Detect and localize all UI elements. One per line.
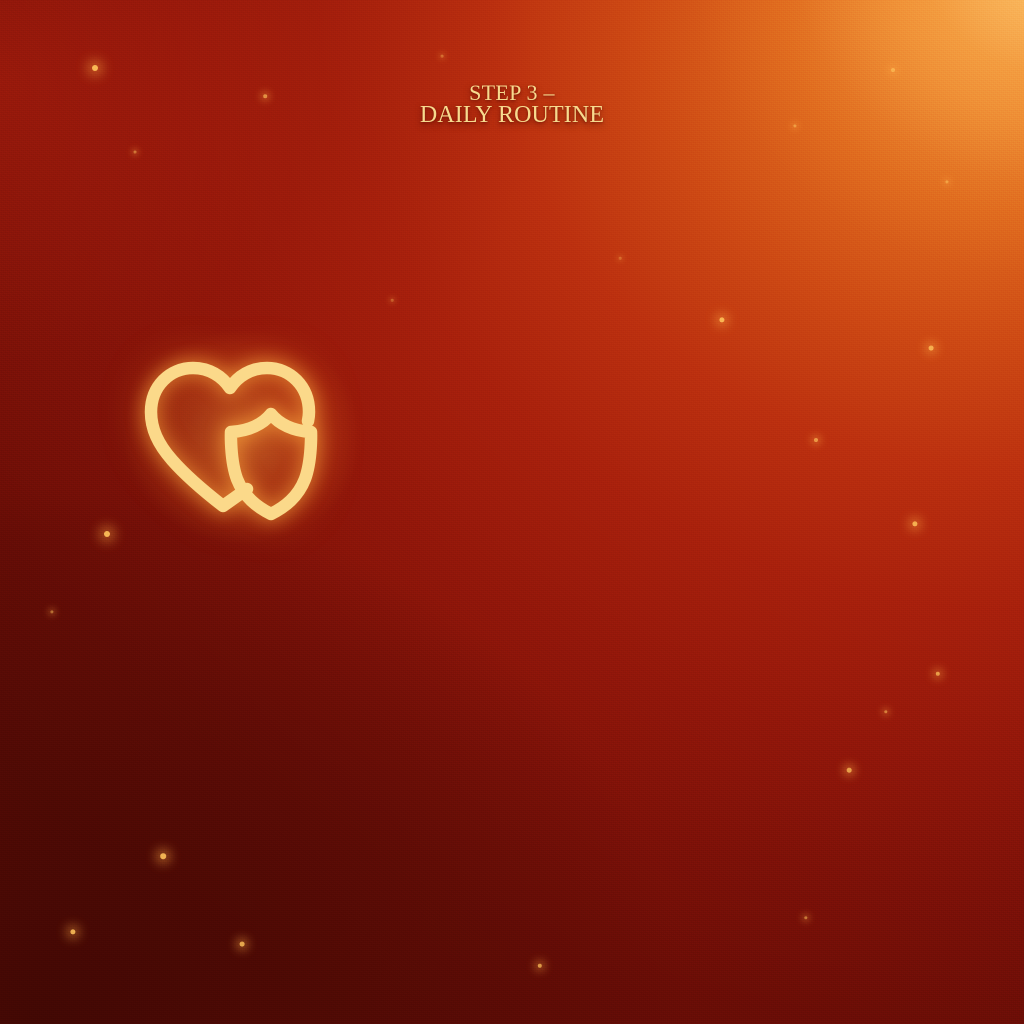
body-line: cholesterol, healthy [0,648,1024,722]
page-title: STEP 3 – DAILY ROUTINE [0,82,1024,128]
body-line: blood pressure, and [0,722,1024,796]
body-line: for 90 days [0,426,1024,500]
body-line: heart protection. [0,870,1024,944]
body-line: to experience [0,500,1024,574]
body-line: Continue daily [0,352,1024,426]
poster-canvas: STEP 3 – DAILY ROUTINE Continue daily fo… [0,0,1024,1024]
title-line-1: STEP 3 – [0,82,1024,104]
body-text: Continue daily for 90 days to experience… [0,352,1024,944]
body-line: complete Ayurvedic [0,796,1024,870]
body-line: lasting results — balanced [0,574,1024,648]
title-line-2: DAILY ROUTINE [0,104,1024,128]
